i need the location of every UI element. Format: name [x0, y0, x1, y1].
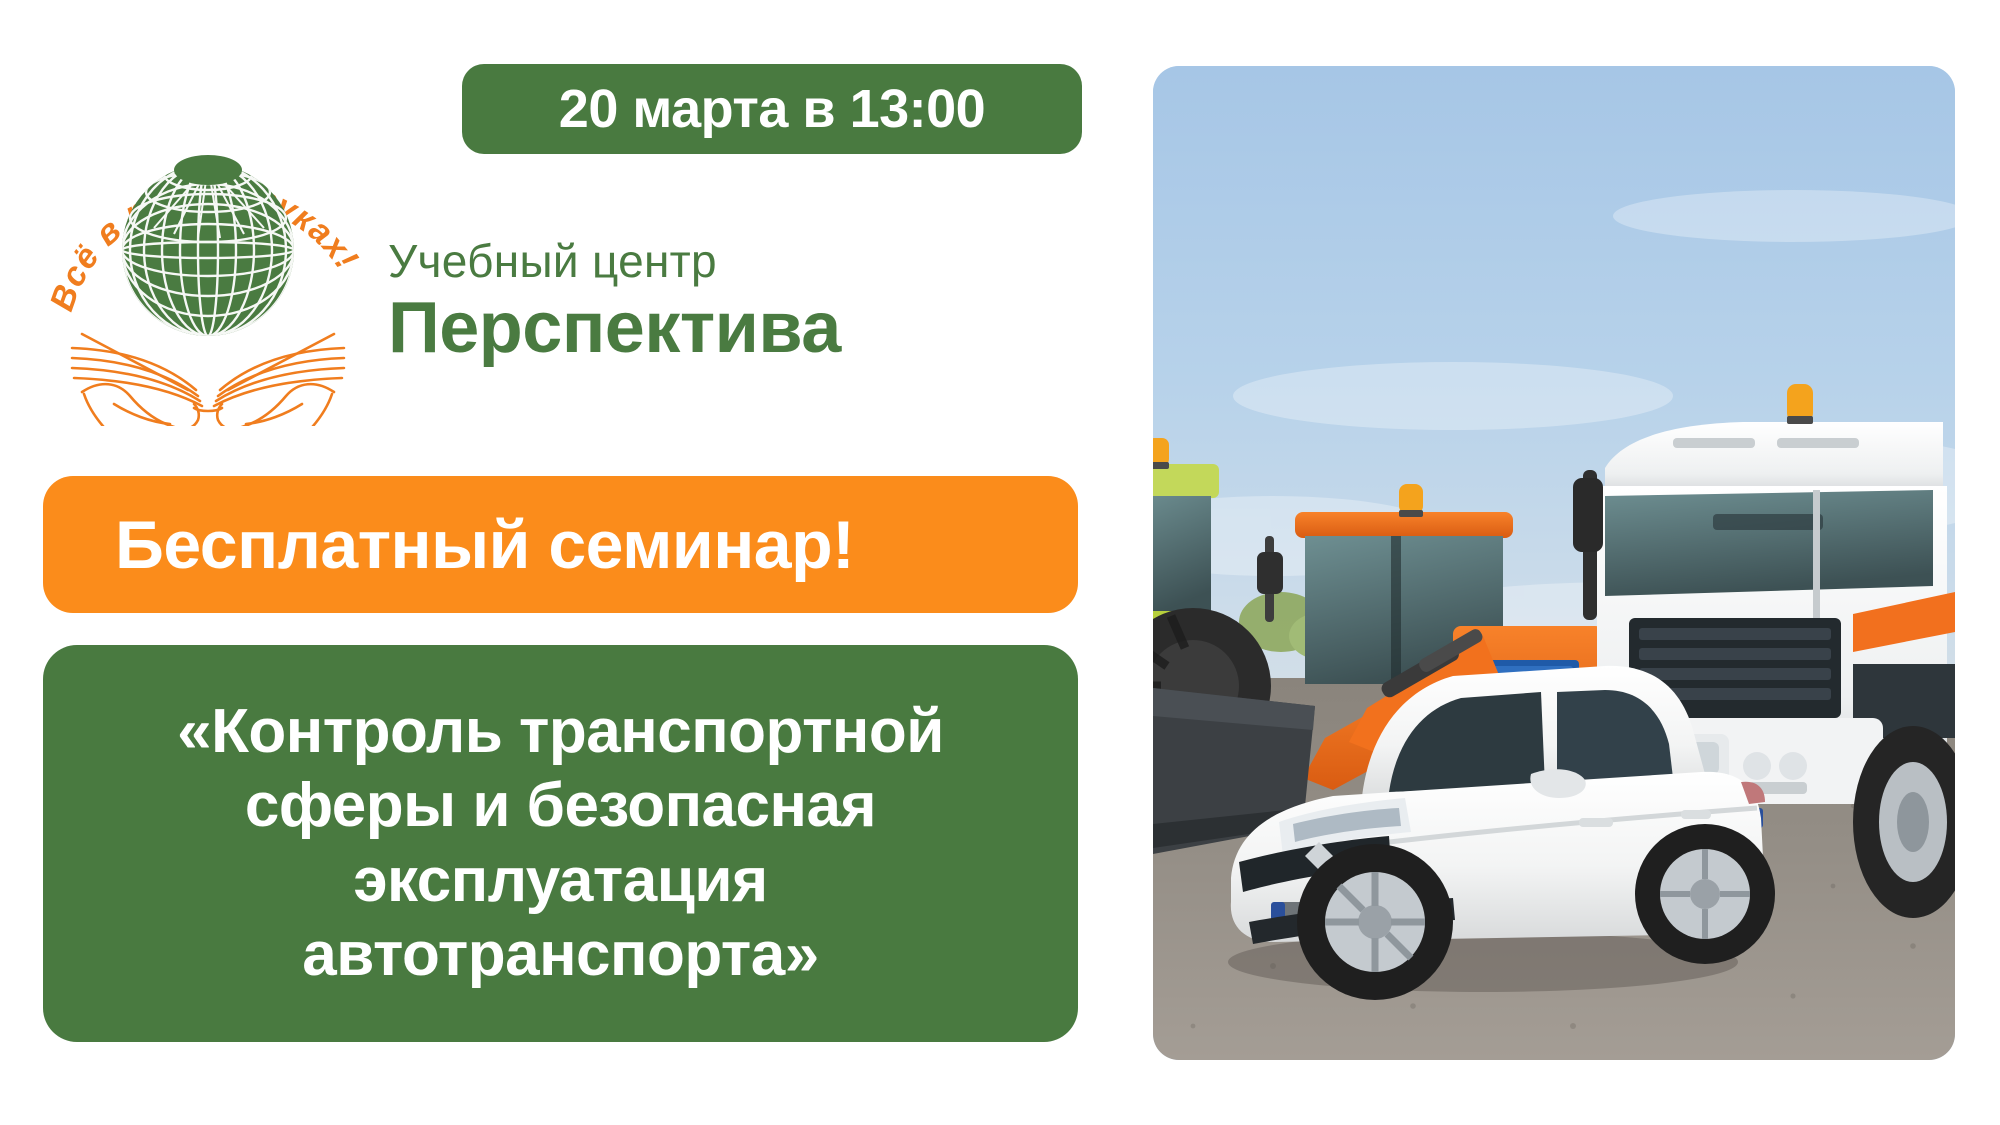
seminar-topic-title: «Контроль транспортнойсферы и безопасная… — [177, 695, 944, 993]
free-seminar-label: Бесплатный семинар! — [115, 506, 854, 584]
seminar-topic-box: «Контроль транспортнойсферы и безопасная… — [43, 645, 1078, 1042]
car-rear-wheel — [1635, 824, 1775, 964]
poster-canvas: Всё в твоих руках! — [0, 0, 2000, 1125]
brand-wordmark: Учебный центр Перспектива — [388, 238, 1028, 364]
seminar-topic-line: сферы и безопасная — [245, 771, 876, 840]
brand-line-2: Перспектива — [388, 292, 1028, 364]
company-logo: Всё в твоих руках! — [48, 108, 368, 426]
date-badge-label: 20 марта в 13:00 — [559, 78, 985, 140]
date-badge: 20 марта в 13:00 — [462, 64, 1082, 154]
seminar-topic-line: «Контроль транспортной — [177, 697, 944, 766]
free-seminar-banner: Бесплатный семинар! — [43, 476, 1078, 613]
seminar-topic-line: эксплуатация — [353, 846, 767, 915]
brand-line-1: Учебный центр — [388, 238, 1028, 284]
car-front-wheel — [1297, 844, 1453, 1000]
vehicles-photo — [1153, 66, 1955, 1060]
seminar-topic-line: автотранспорта» — [302, 920, 819, 989]
hands-icon — [72, 334, 344, 426]
